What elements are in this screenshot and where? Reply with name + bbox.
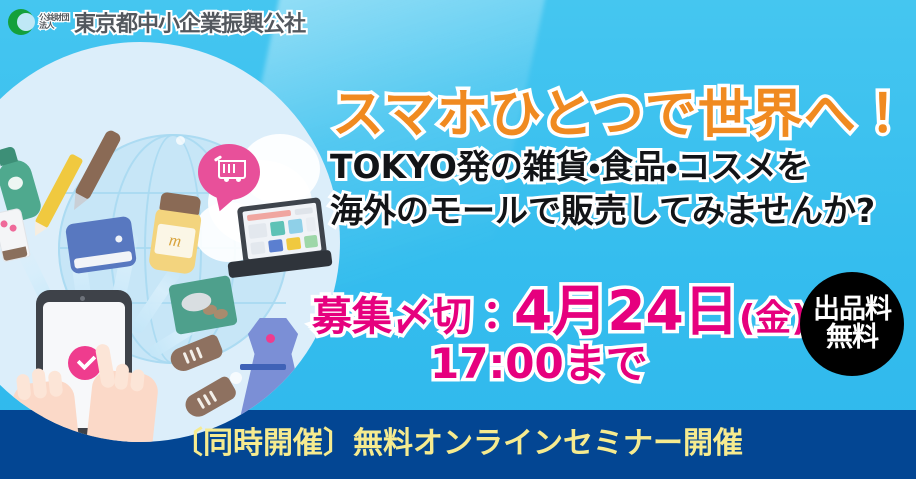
org-kind: 公益財団 法人 <box>39 14 69 30</box>
finger <box>114 363 130 390</box>
badge-line1: 出品料 <box>813 296 891 324</box>
cart-wheel <box>236 177 241 182</box>
organization-logo: 公益財団 法人 東京都中小企業振興公社 <box>8 7 305 37</box>
promo-banner: m <box>0 0 916 479</box>
free-listing-badge: 出品料 無料 <box>800 272 904 376</box>
org-name: 東京都中小企業振興公社 <box>74 6 305 38</box>
laptop-ui-bar <box>294 207 313 215</box>
finger <box>16 373 32 400</box>
illustration-content: m <box>0 42 340 442</box>
sparkle-dot <box>230 372 242 384</box>
headline-sub-2: 海外のモールで販売してみませんか? <box>330 184 875 232</box>
laptop-display <box>242 203 321 260</box>
shopping-cart-icon <box>214 160 244 182</box>
snack-bean <box>213 308 229 320</box>
badge-line2: 無料 <box>826 324 878 352</box>
jar-label: m <box>154 224 196 259</box>
shoe-stripe <box>209 390 218 402</box>
laptop-ui-bar <box>250 241 265 255</box>
finger <box>130 369 145 392</box>
tube-flower-dot <box>9 224 17 232</box>
headline-sub-1: TOKYO発の雑貨・食品・コスメを <box>330 140 809 188</box>
laptop-ui-bar <box>268 239 283 253</box>
shoe-stripe <box>183 352 190 364</box>
jam-jar-icon: m <box>148 207 202 275</box>
laptop-ui-bar <box>247 210 291 221</box>
finger <box>48 370 64 397</box>
dress-necklace <box>266 334 275 343</box>
illustration-circle: m <box>0 42 340 442</box>
shoe-icon <box>181 375 238 422</box>
shoe-stripe <box>189 349 196 361</box>
cart-basket <box>218 160 246 179</box>
shoe-stripe <box>196 347 203 359</box>
laptop-ui-bar <box>306 217 317 232</box>
wallet-icon <box>65 216 137 275</box>
laptop-ui-bar <box>286 237 301 251</box>
laptop-ui-bar <box>288 219 304 235</box>
footer-seminar-text: 〔同時開催〕無料オンラインセミナー開催 <box>0 418 916 462</box>
phone-camera <box>80 296 85 301</box>
snack-package-icon <box>168 275 238 335</box>
cart-wheel <box>224 177 229 182</box>
dress-belt <box>240 364 286 370</box>
deadline-weekday: (金) <box>739 289 808 341</box>
laptop-ui-bar <box>270 221 286 237</box>
deadline-time: 17:00まで <box>430 330 648 391</box>
laptop-ui-bar <box>248 223 268 239</box>
laptop-ui-bar <box>304 235 318 248</box>
headline-main: スマホひとつで世界へ！ <box>332 72 910 147</box>
tube-flower-dot <box>0 220 8 228</box>
org-kind-line2: 法人 <box>39 22 69 30</box>
green-crescent-icon <box>8 9 34 35</box>
sparkle-dot <box>176 136 185 145</box>
